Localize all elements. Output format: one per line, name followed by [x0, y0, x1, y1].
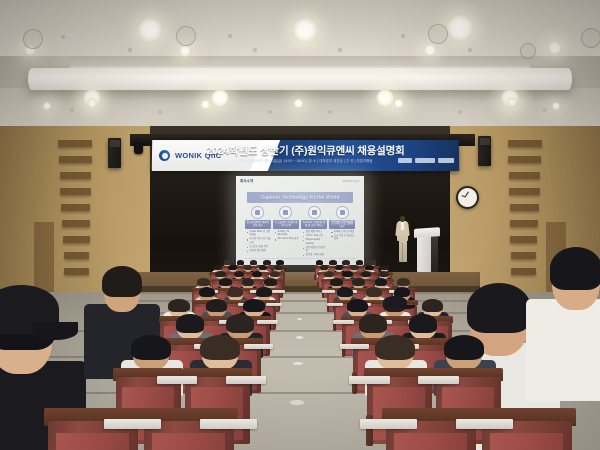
audience-hair	[276, 260, 283, 265]
audience-hair	[242, 278, 255, 286]
ceiling-downlight	[376, 89, 394, 107]
slide-bullet: 신규 사업 포트폴리오 확대	[331, 235, 355, 242]
aisle-step-edge	[120, 292, 480, 294]
wall-speaker-left	[108, 138, 121, 168]
slide-bullet: 차세대 소재 연구개발	[331, 231, 355, 234]
slide-column-heading-text: Advanced Materials 신규사업 기술 경쟁력 확보	[330, 221, 354, 229]
audience-hair	[361, 271, 371, 277]
seat-cushion	[394, 433, 467, 450]
ceiling-downlight	[87, 98, 97, 108]
wall-clock-icon	[456, 186, 479, 209]
wall-slat	[63, 236, 90, 243]
slide-column-heading-text: 반도체 장비용 세라믹 부품 제조	[246, 222, 270, 227]
slide-column-icon	[336, 206, 349, 219]
slide-columns: 반도체 장비용 세라믹 부품 제조Quartz Ware 전 공정 내재화대구경…	[245, 206, 355, 258]
wall-slat	[61, 204, 90, 211]
audience-hair	[409, 314, 438, 332]
auditorium-photo: WONIK QnC 2024학년도 상반기 (주)원익큐엔씨 채용설명회 [ 일…	[0, 0, 600, 450]
audience-hair	[335, 265, 344, 270]
audience-hair	[243, 299, 264, 312]
slide-bullet: 글로벌 고객사 대응	[303, 254, 327, 257]
slide-column-icon	[279, 206, 292, 219]
ceiling-vent-dot	[468, 48, 472, 52]
audience-hair	[227, 287, 243, 297]
audience-hair	[219, 278, 232, 286]
slide-column-bullets: 정밀 세정 서비스Y2O3 / YAG 코팅Plasma Spray Coati…	[301, 231, 327, 257]
seat-tablet-arm[interactable]	[456, 419, 513, 430]
audience-hair	[252, 271, 262, 277]
audience-hair	[168, 299, 189, 312]
audience-hair	[379, 271, 389, 277]
ceiling-light-cove	[28, 68, 572, 90]
wall-slat	[58, 140, 92, 147]
audience-hair	[213, 265, 222, 270]
wall-slat	[509, 188, 539, 195]
ceiling-fixture-ring	[581, 28, 600, 48]
lectern	[414, 228, 440, 272]
audience-hair	[131, 335, 171, 361]
aisle-marker	[290, 400, 304, 405]
slide-bullet: Plasma Spray Coating	[303, 239, 327, 246]
seat-tablet-arm[interactable]	[327, 303, 343, 306]
seat-leg	[317, 282, 319, 288]
slide-bullet: Quartz Ware 전 공정 내재화	[247, 231, 271, 238]
audience-hair	[375, 335, 415, 361]
audience-hair	[234, 271, 244, 277]
auditorium-seat[interactable]	[478, 408, 576, 450]
audience-hair	[342, 260, 349, 265]
auditorium-seat[interactable]	[140, 408, 238, 450]
ceiling-fixture-ring	[428, 24, 448, 44]
ceiling-downlight	[446, 14, 474, 42]
audience-hair	[197, 278, 210, 286]
seat-tablet-arm[interactable]	[226, 376, 267, 384]
slide-column: 디스플레이 공정용 세라믹 부품Si Ring / Si ElectrodeSi…	[273, 206, 299, 258]
audience-hair	[444, 335, 484, 361]
audience-hair	[320, 265, 329, 270]
audience-torso	[526, 299, 600, 401]
sponsor-logo	[398, 157, 412, 162]
slide-column-icon	[251, 206, 264, 219]
seat-tablet-arm[interactable]	[104, 419, 161, 430]
wall-speaker-right	[478, 136, 491, 166]
presenter-hair	[400, 216, 405, 222]
slide-header-right: WONIK QnC	[343, 179, 360, 183]
slide-column: 반도체 장비용 세라믹 부품 제조Quartz Ware 전 공정 내재화대구경…	[245, 206, 271, 258]
audience-hair	[329, 260, 336, 265]
seat-tablet-arm[interactable]	[266, 303, 282, 306]
audience-hair	[226, 314, 255, 332]
audience-hair	[274, 265, 283, 270]
seat-cushion	[56, 433, 129, 450]
seat-leg	[314, 274, 315, 280]
audience-hair	[224, 260, 231, 265]
audience-hair	[422, 299, 443, 312]
icon-glyph	[283, 210, 288, 215]
slide-title-bar: Superior Technology for the World	[247, 192, 353, 203]
slide-bullet: 정밀 세정 서비스	[303, 231, 327, 234]
audience-hair	[102, 266, 142, 298]
audience-hair	[270, 271, 280, 277]
audience-hair	[237, 260, 244, 265]
seat-tablet-arm[interactable]	[418, 376, 459, 384]
slide-title-text: Superior Technology for the World	[261, 195, 340, 201]
cap-brim	[33, 322, 78, 340]
audience-hair	[467, 283, 531, 333]
presenter-shirt	[401, 222, 404, 230]
presentation-slide: 회사소개 WONIK QnC Superior Technology for t…	[236, 176, 364, 265]
audience-hair	[375, 278, 388, 286]
ceiling-vent-dot	[70, 108, 74, 112]
stage-spotlight	[134, 141, 143, 154]
audience-hair	[264, 278, 277, 286]
seat-tablet-arm[interactable]	[272, 290, 285, 292]
ceiling-fixture-ring	[176, 26, 196, 46]
ceiling-vent-dot	[158, 110, 162, 114]
ceiling-vent-dot	[543, 108, 547, 112]
slide-column-icon	[308, 206, 321, 219]
wall-slat	[510, 204, 539, 211]
audience-hair	[342, 271, 352, 277]
wall-slat	[511, 268, 535, 275]
ceiling-vent-dot	[268, 110, 272, 114]
slide-bullet: Y2O3 / YAG 코팅	[303, 235, 327, 238]
ceiling-downlight	[211, 89, 229, 107]
audience-hair	[359, 314, 388, 332]
seat-tablet-arm[interactable]	[360, 419, 417, 430]
slide-footer-rule	[244, 258, 356, 259]
slide-bullet: SiC Focus Ring 양산	[275, 238, 299, 241]
slide-column-bullets: 차세대 소재 연구개발신규 사업 포트폴리오 확대	[329, 231, 355, 242]
ceiling-downlight	[507, 97, 517, 107]
seat-tablet-arm[interactable]	[333, 320, 354, 324]
slide-column-heading-text: 디스플레이 공정용 세라믹 부품	[274, 222, 298, 227]
banner-title: 2024학년도 상반기 (주)원익큐엔씨 채용설명회	[152, 143, 459, 158]
audience-hair	[380, 265, 389, 270]
ceiling-fixture-ring	[520, 43, 536, 59]
presenter-figure	[396, 216, 409, 262]
audience-hair	[256, 287, 272, 297]
slide-header-left: 회사소개	[240, 179, 253, 184]
audience-hair	[366, 287, 382, 297]
audience-hair	[316, 260, 323, 265]
audience-hair	[176, 314, 205, 332]
seat-tablet-arm[interactable]	[200, 419, 257, 430]
slide-column-bullets: Si Ring / Si ElectrodeSiC Focus Ring 양산	[273, 231, 299, 242]
aisle-marker	[296, 336, 303, 339]
seat-tablet-arm[interactable]	[244, 344, 273, 350]
audience-hair	[397, 278, 410, 286]
auditorium-seat[interactable]	[44, 408, 142, 450]
wall-slat	[508, 156, 541, 163]
ceiling-vent-dot	[128, 48, 132, 52]
slide-column-heading-text: Ceramic 소재부품 세정 및 코팅 서비스	[302, 222, 326, 227]
audience-hair	[244, 265, 253, 270]
audience-hair	[200, 335, 240, 361]
seat-tablet-arm[interactable]	[157, 376, 198, 384]
audience-hair	[199, 287, 215, 297]
audience-hair	[347, 299, 368, 312]
ceiling-downlight	[201, 100, 210, 109]
wall-slat	[60, 172, 92, 179]
slide-column: Ceramic 소재부품 세정 및 코팅 서비스정밀 세정 서비스Y2O3 / …	[301, 206, 327, 258]
audience-hair	[369, 260, 376, 265]
ceiling-vent-dot	[228, 34, 231, 37]
event-banner: WONIK QnC 2024학년도 상반기 (주)원익큐엔씨 채용설명회 [ 일…	[152, 140, 459, 171]
wall-slat	[510, 220, 538, 227]
audience-hair	[365, 265, 374, 270]
wall-slat	[60, 188, 90, 195]
audience-hair	[228, 265, 237, 270]
seat-tablet-arm[interactable]	[322, 290, 335, 292]
ceiling-soffit-edge	[0, 56, 600, 66]
audience-hair	[250, 260, 257, 265]
slide-bullet: Si Ring / Si Electrode	[275, 231, 299, 238]
ceiling-vent-dot	[253, 48, 256, 51]
wall-slat	[59, 156, 92, 163]
wall-slat	[510, 236, 537, 243]
banner-sponsor-logos	[398, 157, 454, 162]
sponsor-logo	[438, 157, 454, 162]
slide-column-bullets: Quartz Ware 전 공정 내재화대구경 석영 가공 기술 보유초고순도 …	[245, 231, 271, 253]
audience-hair	[263, 260, 270, 265]
audience-hair	[337, 287, 353, 297]
seat-tablet-arm[interactable]	[349, 376, 390, 384]
sponsor-logo	[415, 157, 435, 162]
wall-slat	[64, 268, 88, 275]
slide-bullet: 클린룸 생산 체계	[247, 250, 271, 253]
presenter-trousers	[399, 240, 407, 262]
audience-hair	[324, 271, 334, 277]
audience-hair	[550, 247, 600, 290]
lectern-side-panel	[431, 236, 438, 272]
audience-hair	[259, 265, 268, 270]
lectern-top	[414, 227, 440, 238]
icon-glyph	[340, 210, 345, 215]
ceiling-downlight	[179, 45, 191, 57]
slide-column-heading: 반도체 장비용 세라믹 부품 제조	[245, 220, 271, 229]
seat-tablet-arm[interactable]	[340, 344, 369, 350]
audience-hair	[350, 265, 359, 270]
ceiling-downlight	[552, 102, 560, 110]
slide-bullet: 부품 재생 및 수명 연장	[303, 247, 327, 254]
seat-cushion	[490, 433, 563, 450]
wall-slat	[62, 220, 90, 227]
wall-slat	[509, 172, 541, 179]
slide-column-heading: Ceramic 소재부품 세정 및 코팅 서비스	[301, 220, 327, 229]
ceiling-vent-dot	[328, 110, 332, 114]
ceiling-downlight	[294, 99, 303, 108]
ceiling-vent-dot	[338, 48, 341, 51]
wall-slat	[511, 252, 537, 259]
ceiling-downlight	[43, 102, 51, 110]
ceiling-vent-dot	[401, 34, 404, 37]
slide-header: 회사소개 WONIK QnC	[240, 179, 360, 186]
slide-column: Advanced Materials 신규사업 기술 경쟁력 확보차세대 소재 …	[329, 206, 355, 258]
seat-tablet-arm[interactable]	[257, 320, 278, 324]
icon-glyph	[255, 210, 260, 215]
ceiling-vent-dot	[458, 110, 462, 114]
icon-glyph	[312, 210, 317, 215]
ceiling-downlight	[548, 41, 562, 55]
ceiling-downlight	[424, 44, 436, 56]
audience-hair	[352, 278, 365, 286]
ceiling-downlight	[137, 17, 163, 43]
ceiling-fixture-ring	[23, 29, 43, 49]
audience-hair	[356, 260, 363, 265]
audience-hair	[330, 278, 343, 286]
slide-bullet: 대구경 석영 가공 기술 보유	[247, 238, 271, 245]
ceiling-downlight	[394, 99, 403, 108]
wall-slat	[64, 252, 90, 259]
audience-hair	[206, 299, 227, 312]
slide-column-heading: Advanced Materials 신규사업 기술 경쟁력 확보	[329, 220, 355, 229]
seat-cushion	[152, 433, 225, 450]
projection-screen: 회사소개 WONIK QnC Superior Technology for t…	[236, 176, 364, 265]
slide-column-heading: 디스플레이 공정용 세라믹 부품	[273, 220, 299, 229]
ceiling-downlight	[292, 17, 318, 43]
audience-member-foreground	[552, 250, 600, 394]
slide-bullet: 초고순도 합성 석영	[247, 246, 271, 249]
aisle-marker	[297, 318, 302, 320]
auditorium-seat[interactable]	[382, 408, 480, 450]
wall-slat	[508, 140, 542, 147]
audience-hair	[215, 271, 225, 277]
ceiling-vent-dot	[61, 35, 65, 39]
